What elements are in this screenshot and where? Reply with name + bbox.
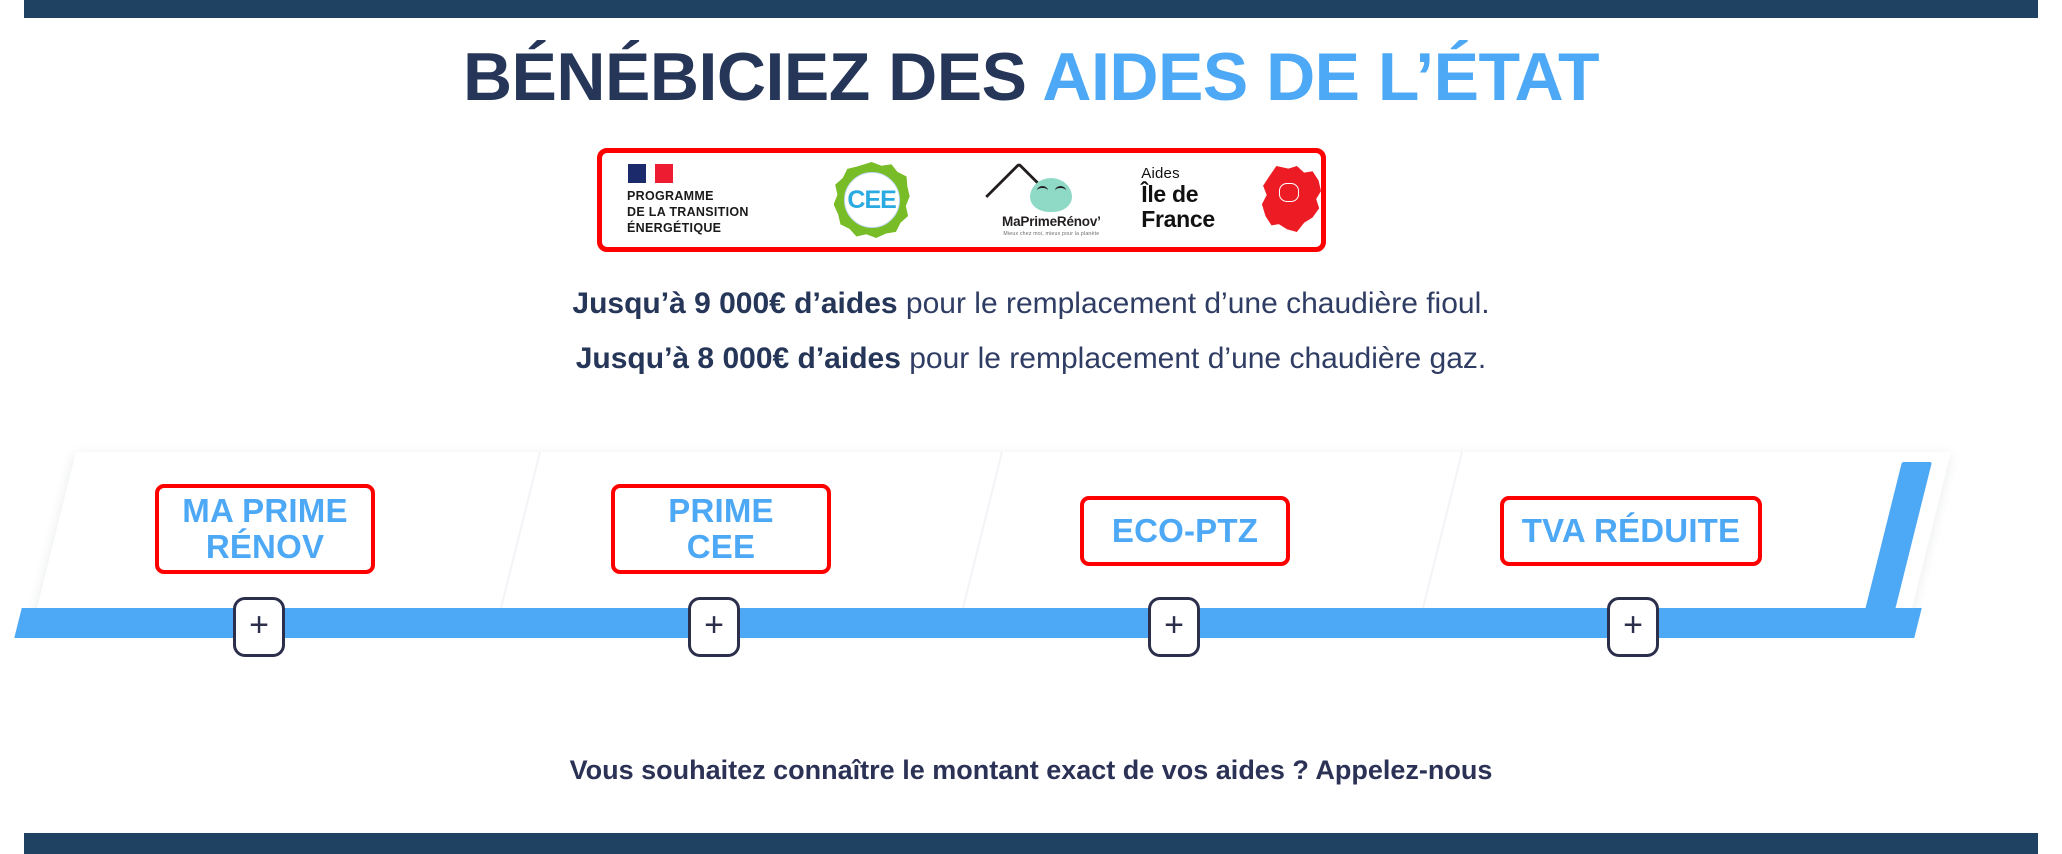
logo-cee: CEE [782, 153, 962, 247]
bottom-navy-bar [24, 833, 2038, 854]
aid-card-eco-ptz[interactable]: ECO-PTZ [1080, 496, 1290, 566]
logo-pte-line2: DE LA TRANSITION [627, 204, 749, 220]
aid-card-ma-prime-renov[interactable]: MA PRIME RÉNOV [155, 484, 375, 574]
expand-button-prime-cee[interactable]: + [688, 597, 740, 657]
logo-pte-line3: ÉNERGÉTIQUE [627, 220, 749, 236]
subline-fioul-amount: Jusqu’à 9 000€ d’aides [572, 287, 897, 320]
logo-pte-line1: PROGRAMME [627, 188, 749, 204]
page-title-part-dark: BÉNÉBICIEZ DES [463, 39, 1027, 115]
subline-fioul-rest: pour le remplacement d’une chaudière fio… [898, 287, 1490, 320]
partner-logo-strip: PROGRAMME DE LA TRANSITION ÉNERGÉTIQUE C… [597, 148, 1326, 252]
top-navy-bar [24, 0, 2038, 18]
subline-gaz-amount: Jusqu’à 8 000€ d’aides [576, 342, 901, 375]
aid-card-tva-reduite[interactable]: TVA RÉDUITE [1500, 496, 1762, 566]
expand-button-ma-prime-renov[interactable]: + [233, 597, 285, 657]
logo-cee-label: CEE [847, 188, 895, 213]
aid-card-prime-cee[interactable]: PRIME CEE [611, 484, 831, 574]
expand-button-tva-reduite[interactable]: + [1607, 597, 1659, 657]
subline-fioul: Jusqu’à 9 000€ d’aides pour le remplacem… [0, 287, 2062, 321]
page-title: BÉNÉBICIEZ DES AIDES DE L’ÉTAT [0, 42, 2062, 113]
logo-aides-ile-de-france: Aides Île de France [1141, 153, 1321, 247]
ile-de-france-map-icon [1261, 166, 1321, 232]
logo-idf-small: Aides [1141, 166, 1252, 182]
expand-button-eco-ptz[interactable]: + [1148, 597, 1200, 657]
subline-gaz: Jusqu’à 8 000€ d’aides pour le remplacem… [0, 342, 2062, 376]
house-smiley-icon [1005, 160, 1097, 212]
logo-maprimerenov-tagline: Mieux chez moi, mieux pour la planète [1003, 231, 1099, 237]
page-title-part-light: AIDES DE L’ÉTAT [1042, 39, 1599, 115]
logo-maprimerenov: MaPrimeRénov’ Mieux chez moi, mieux pour… [962, 153, 1142, 247]
cee-badge-icon: CEE [834, 162, 910, 238]
subline-gaz-rest: pour le remplacement d’une chaudière gaz… [901, 342, 1486, 375]
call-to-action-text: Vous souhaitez connaître le montant exac… [0, 755, 2062, 786]
logo-idf-big: Île de France [1141, 182, 1252, 233]
logo-programme-transition-energetique: PROGRAMME DE LA TRANSITION ÉNERGÉTIQUE [602, 153, 782, 247]
french-flag-icon [628, 164, 673, 183]
